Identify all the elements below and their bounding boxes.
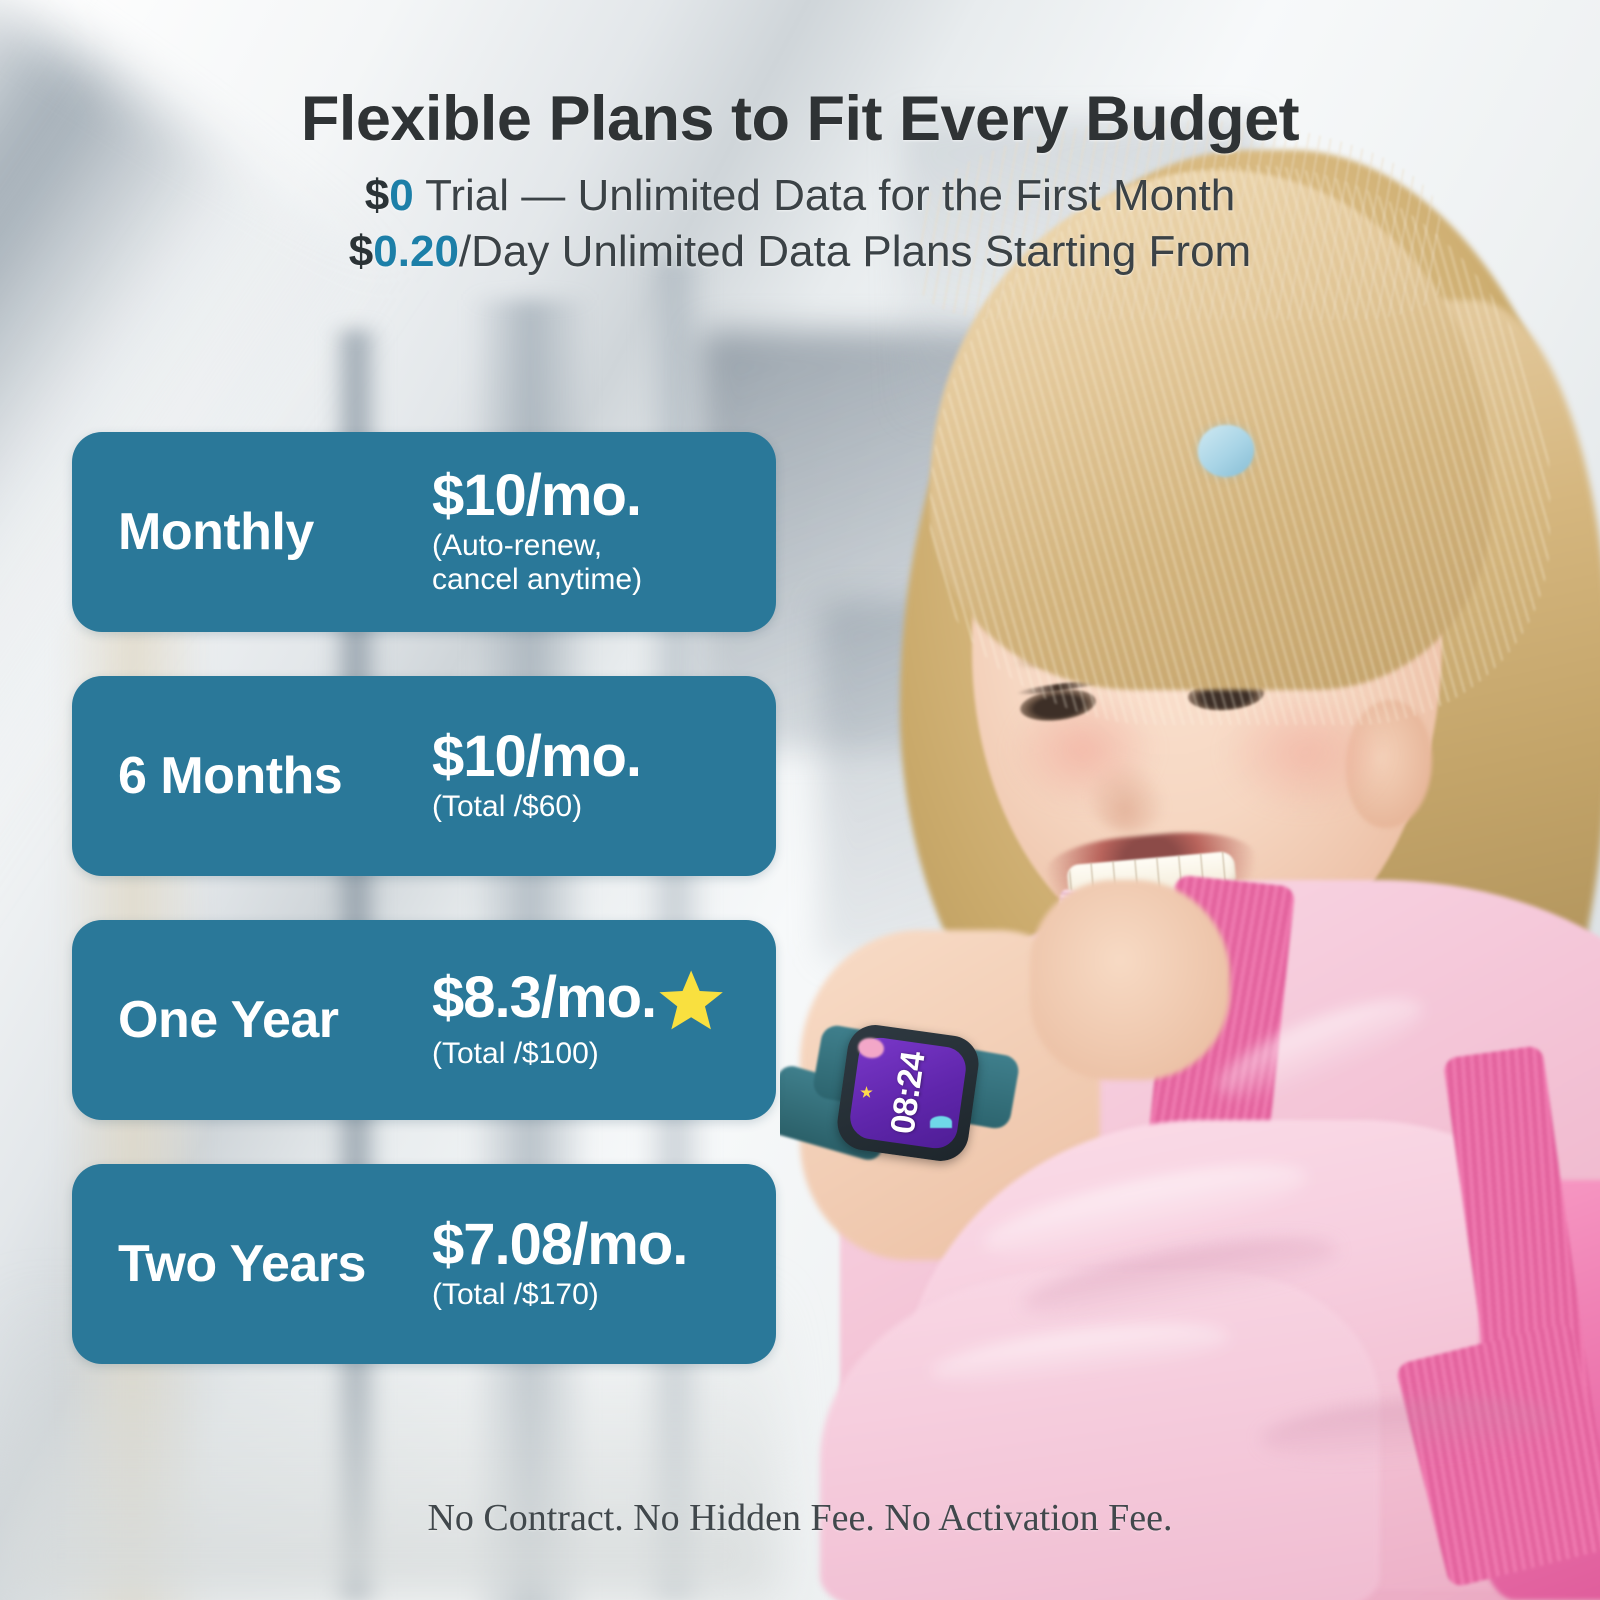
plan-note-line-1: (Total /$100) xyxy=(432,1037,599,1070)
plan-name: One Year xyxy=(118,990,428,1050)
plan-price-block: $7.08/mo. (Total /$170) xyxy=(428,1216,776,1312)
hand xyxy=(1030,880,1230,1080)
pricing-card-6-months[interactable]: 6 Months $10/mo. (Total /$60) xyxy=(72,676,776,876)
page-title: Flexible Plans to Fit Every Budget xyxy=(0,86,1600,152)
plan-name: Monthly xyxy=(118,502,428,562)
pricing-card-list: Monthly $10/mo. (Auto-renew, cancel anyt… xyxy=(72,432,776,1408)
pricing-card-one-year[interactable]: One Year $8.3/mo. (Total /$100) xyxy=(72,920,776,1120)
plan-price: $10/mo. xyxy=(432,728,641,786)
plan-note-line-2: cancel anytime) xyxy=(432,563,776,597)
page-subtitle: $0 Trial — Unlimited Data for the First … xyxy=(0,168,1600,281)
daily-rate-amount: 0.20 xyxy=(373,227,459,276)
subtitle-line-1: $0 Trial — Unlimited Data for the First … xyxy=(0,168,1600,224)
plan-note-line-1: (Auto-renew, xyxy=(432,529,602,562)
dollar-sign: $ xyxy=(349,227,373,276)
nose xyxy=(1090,760,1168,832)
subtitle-line-1-rest: Trial — Unlimited Data for the First Mon… xyxy=(414,171,1236,220)
subtitle-line-2: $0.20/Day Unlimited Data Plans Starting … xyxy=(0,224,1600,280)
pricing-card-monthly[interactable]: Monthly $10/mo. (Auto-renew, cancel anyt… xyxy=(72,432,776,632)
plan-price-block: $10/mo. (Auto-renew, cancel anytime) xyxy=(428,467,776,596)
plan-name: Two Years xyxy=(118,1234,428,1294)
plan-price-block: $10/mo. (Total /$60) xyxy=(428,728,776,824)
pricing-card-two-years[interactable]: Two Years $7.08/mo. (Total /$170) xyxy=(72,1164,776,1364)
hair-tie xyxy=(1198,425,1254,477)
plan-price: $8.3/mo. xyxy=(432,969,656,1027)
plan-note: (Total /$60) xyxy=(432,790,776,824)
dollar-sign: $ xyxy=(365,171,389,220)
plan-note-line-1: (Total /$60) xyxy=(432,790,582,823)
trial-amount: 0 xyxy=(389,171,413,220)
subtitle-line-2-rest: /Day Unlimited Data Plans Starting From xyxy=(459,227,1251,276)
header-block: Flexible Plans to Fit Every Budget $0 Tr… xyxy=(0,0,1600,281)
plan-note: (Total /$100) xyxy=(432,1037,776,1071)
watch-decor-leaf-icon xyxy=(930,1116,952,1128)
footer-disclaimer: No Contract. No Hidden Fee. No Activatio… xyxy=(0,1496,1600,1540)
plan-note: (Total /$170) xyxy=(432,1278,776,1312)
plan-note-line-1: (Total /$170) xyxy=(432,1278,599,1311)
plan-name: 6 Months xyxy=(118,746,428,806)
plan-price: $7.08/mo. xyxy=(432,1216,687,1274)
star-icon xyxy=(658,969,724,1033)
plan-price: $10/mo. xyxy=(432,467,641,525)
plan-note: (Auto-renew, cancel anytime) xyxy=(432,529,776,596)
plan-price-block: $8.3/mo. (Total /$100) xyxy=(428,969,776,1071)
